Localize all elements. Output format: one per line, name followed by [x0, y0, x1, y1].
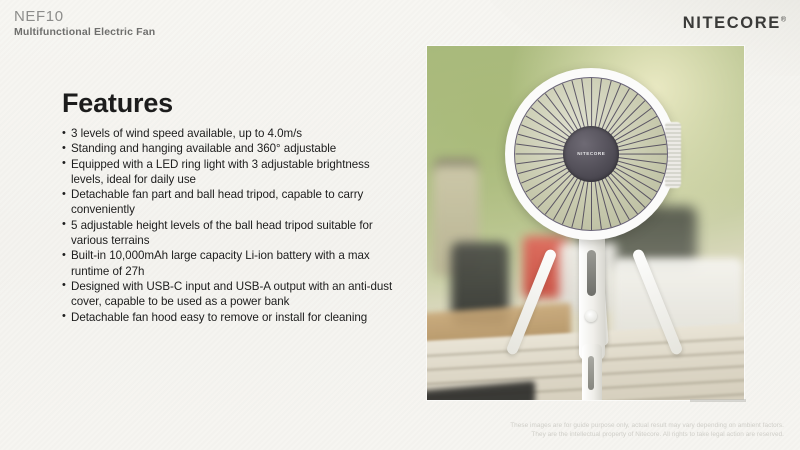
- list-item: Standing and hanging available and 360° …: [62, 141, 402, 156]
- list-item: Detachable fan part and ball head tripod…: [62, 187, 402, 218]
- features-list: 3 levels of wind speed available, up to …: [62, 126, 402, 325]
- fan-hub-label: NITECORE: [577, 151, 605, 157]
- disclaimer-line-2: They are the intellectual property of Ni…: [454, 430, 784, 439]
- features-heading: Features: [62, 88, 402, 118]
- footer-divider: [690, 399, 746, 402]
- fan-hub: NITECORE: [563, 126, 619, 182]
- list-item: Built-in 10,000mAh large capacity Li-ion…: [62, 248, 402, 279]
- product-photo: NITECORE: [427, 46, 744, 400]
- product-fan-head: NITECORE: [505, 68, 677, 240]
- tripod-column-slot: [587, 250, 596, 296]
- product-tripod: [539, 232, 649, 400]
- list-item: 3 levels of wind speed available, up to …: [62, 126, 402, 141]
- product-model: NEF10: [14, 8, 155, 25]
- features-section: Features 3 levels of wind speed availabl…: [62, 88, 402, 325]
- disclaimer-line-1: These images are for guide purpose only,…: [454, 421, 784, 430]
- tripod-lock-button: [585, 310, 597, 322]
- registered-trademark-icon: ®: [781, 17, 786, 24]
- disclaimer-text: These images are for guide purpose only,…: [454, 421, 784, 440]
- list-item: Equipped with a LED ring light with 3 ad…: [62, 157, 402, 188]
- list-item: 5 adjustable height levels of the ball h…: [62, 218, 402, 249]
- slide-header: NEF10 Multifunctional Electric Fan: [14, 8, 155, 39]
- nitecore-logo: NITECORE®: [683, 14, 786, 33]
- list-item: Designed with USB-C input and USB-A outp…: [62, 279, 402, 310]
- list-item: Detachable fan hood easy to remove or in…: [62, 310, 402, 325]
- product-subtitle: Multifunctional Electric Fan: [14, 26, 155, 39]
- nitecore-logo-text: NITECORE: [683, 14, 781, 32]
- slide-canvas: NEF10 Multifunctional Electric Fan NITEC…: [0, 0, 800, 450]
- tripod-lower-column-slot: [588, 356, 594, 390]
